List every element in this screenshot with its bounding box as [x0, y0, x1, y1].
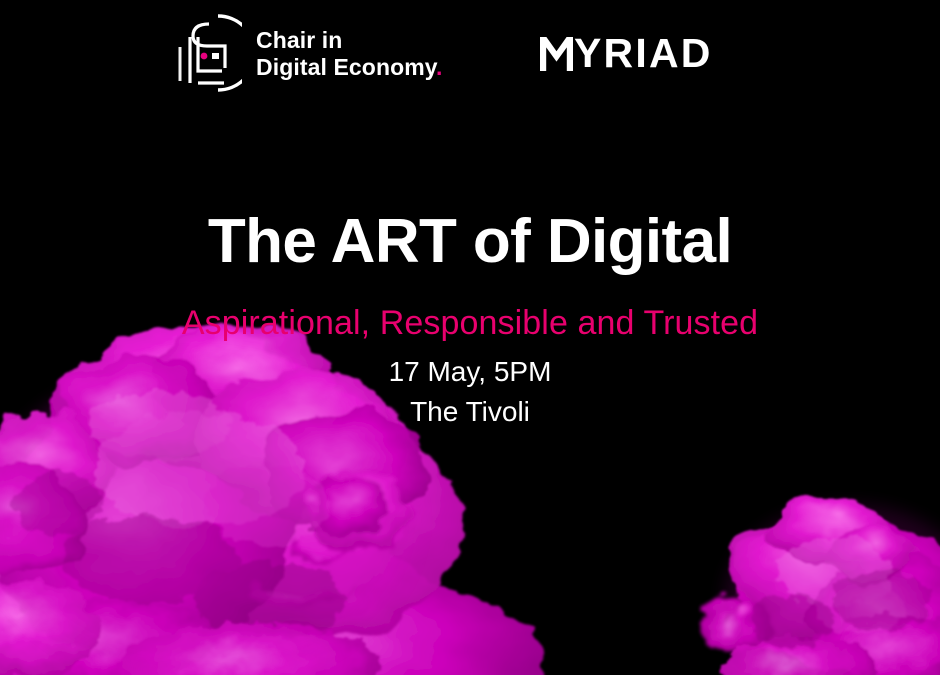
- myriad-logo: YRIAD: [540, 30, 713, 77]
- event-details: 17 May, 5PM The Tivoli: [0, 352, 940, 432]
- event-poster: Chair in Digital Economy. YRIAD The ART …: [0, 0, 940, 675]
- myriad-m-glyph-icon: [540, 37, 573, 71]
- cde-line-2: Digital Economy.: [256, 54, 443, 81]
- cde-line-1: Chair in: [256, 27, 443, 54]
- cde-circular-monogram-icon: [160, 7, 242, 99]
- event-subtitle: Aspirational, Responsible and Trusted: [0, 305, 940, 342]
- event-date-time: 17 May, 5PM: [0, 352, 940, 392]
- brand-row: Chair in Digital Economy. YRIAD: [0, 0, 940, 112]
- myriad-wordmark-text: YRIAD: [574, 30, 713, 77]
- ink-cloud-right: [699, 498, 940, 675]
- cde-accent-dot: .: [436, 54, 443, 80]
- chair-in-digital-economy-logo: Chair in Digital Economy.: [160, 7, 443, 99]
- cde-wordmark: Chair in Digital Economy.: [256, 25, 443, 81]
- event-title: The ART of Digital: [0, 209, 940, 274]
- event-venue: The Tivoli: [0, 392, 940, 432]
